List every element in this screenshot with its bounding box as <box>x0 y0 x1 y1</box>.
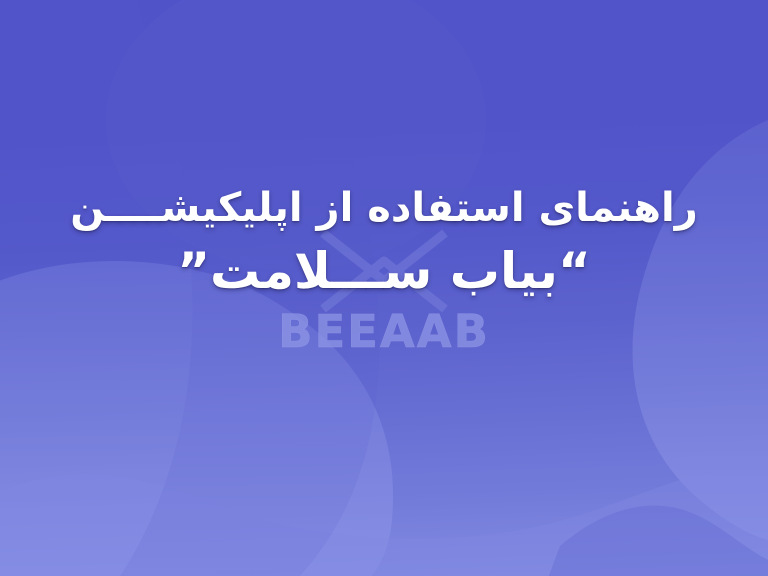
blob-lower-left <box>0 261 393 576</box>
title-card-canvas: BEEAAB راهنمای استفاده از اپلیکیشــــن “… <box>0 0 768 576</box>
watermark-text: BEEAAB <box>278 309 490 354</box>
headline-block: راهنمای استفاده از اپلیکیشــــن “بیاب سـ… <box>0 186 768 299</box>
blob-right-sweep <box>633 120 768 540</box>
blob-bottom-band <box>0 468 768 576</box>
headline-line-2: “بیاب ســـلامت” <box>18 243 750 299</box>
headline-line-1: راهنمای استفاده از اپلیکیشــــن <box>18 186 750 231</box>
blob-bottom-right-hump <box>540 506 768 576</box>
